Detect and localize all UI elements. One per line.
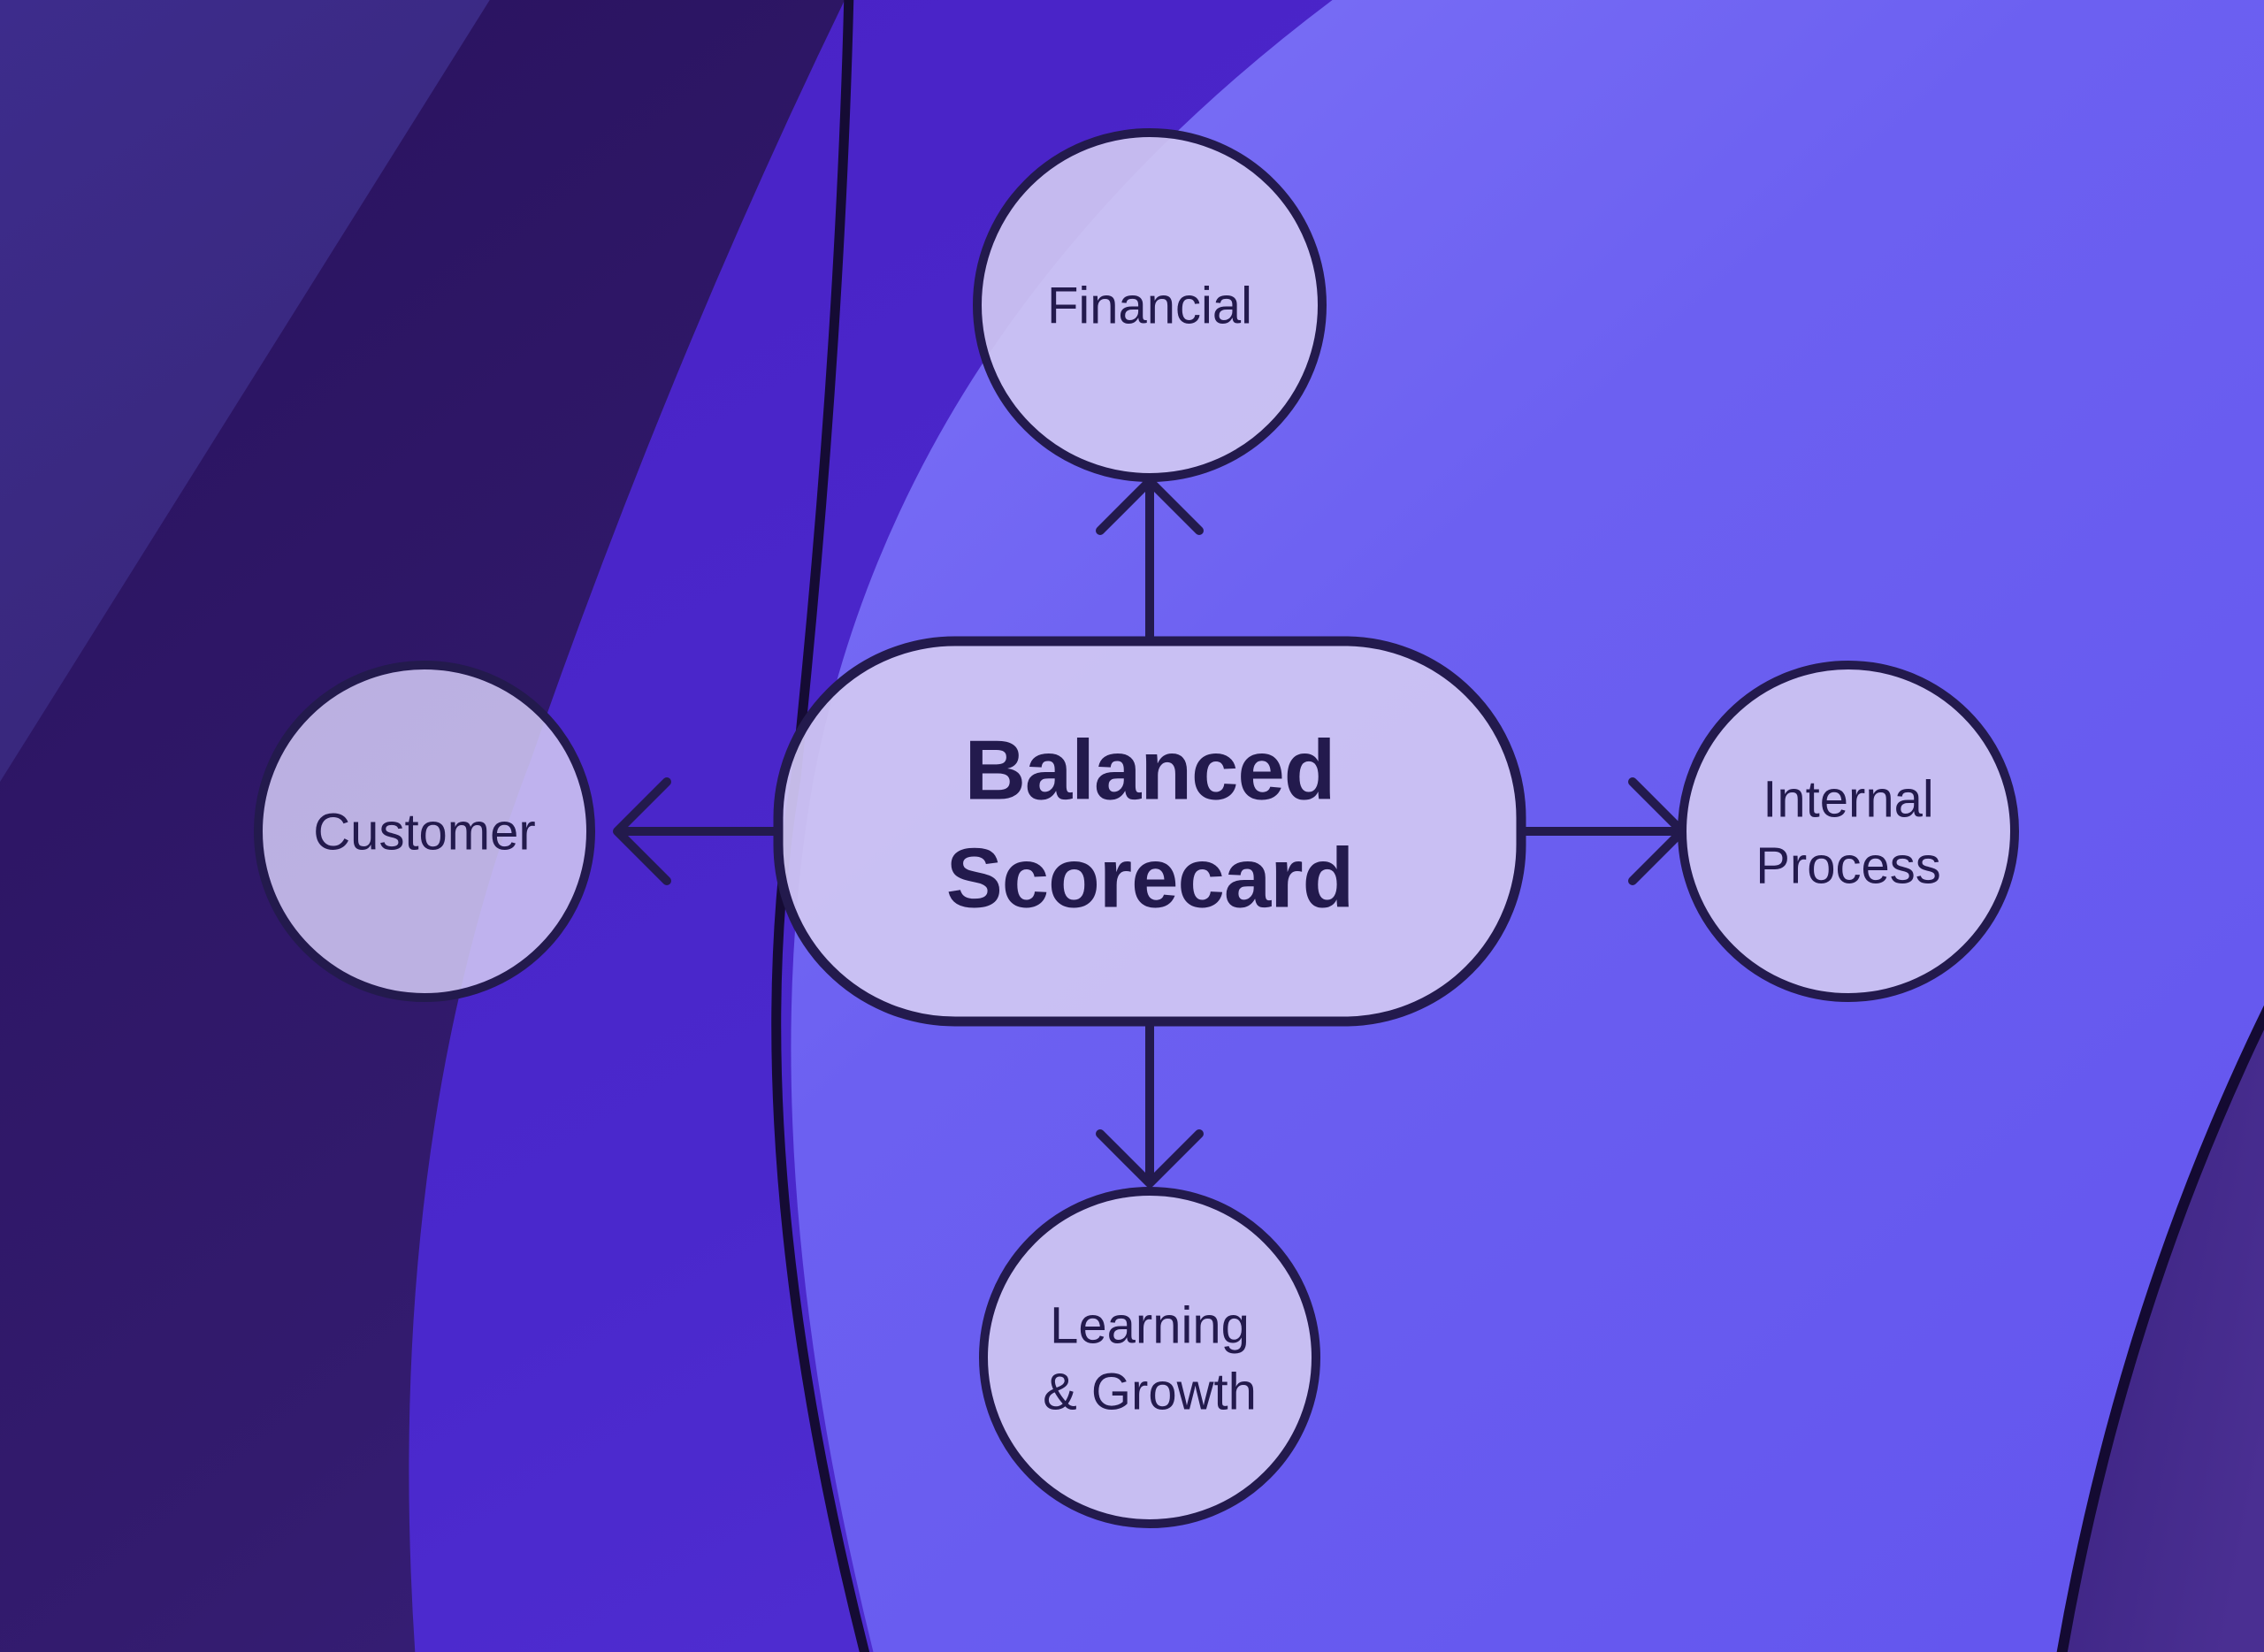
node-learning-growth-shape[interactable] [983, 1191, 1316, 1524]
node-balanced-scorecard-label-line2: Scorecard [946, 830, 1354, 925]
node-balanced-scorecard-label-line1: Balanced [965, 723, 1335, 817]
diagram-canvas: Financial Internal Process Learning & Gr… [0, 0, 2264, 1652]
node-internal-process-label-line1: Internal [1763, 770, 1933, 828]
node-financial[interactable]: Financial [977, 133, 1322, 478]
node-financial-label: Financial [1047, 277, 1252, 334]
nodes-layer: Financial Internal Process Learning & Gr… [0, 0, 2264, 1652]
node-learning-growth-label-line1: Learning [1050, 1296, 1250, 1354]
node-learning-growth[interactable]: Learning & Growth [983, 1191, 1316, 1524]
node-internal-process[interactable]: Internal Process [1682, 665, 2015, 998]
node-learning-growth-label-line2: & Growth [1043, 1363, 1257, 1420]
node-internal-process-shape[interactable] [1682, 665, 2015, 998]
node-internal-process-label-line2: Process [1755, 837, 1941, 894]
node-customer[interactable]: Customer [258, 665, 591, 998]
node-customer-label: Customer [313, 803, 535, 860]
node-balanced-scorecard[interactable]: Balanced Scorecard [778, 641, 1521, 1021]
